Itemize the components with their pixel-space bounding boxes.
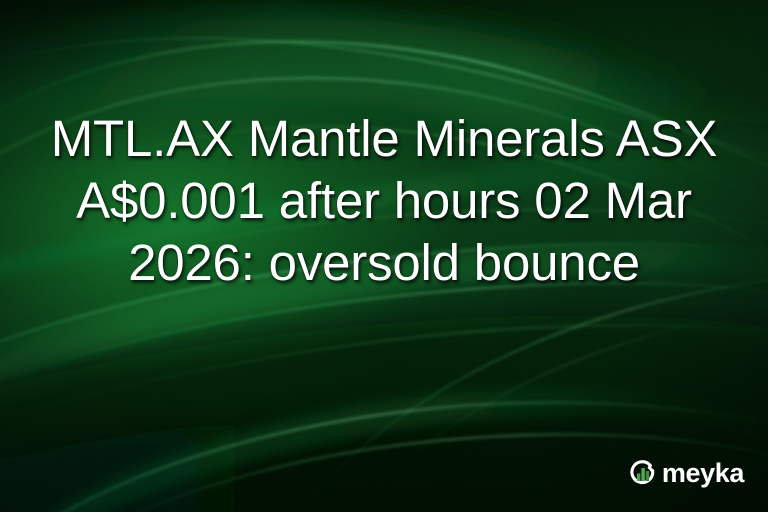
brand-wordmark: meyka [662, 460, 744, 488]
page-title: MTL.AX Mantle Minerals ASX A$0.001 after… [0, 108, 768, 294]
brand-logo[interactable]: meyka [628, 459, 744, 489]
social-share-card: MTL.AX Mantle Minerals ASX A$0.001 after… [0, 0, 768, 512]
bar-chart-in-ring-icon [628, 459, 658, 489]
